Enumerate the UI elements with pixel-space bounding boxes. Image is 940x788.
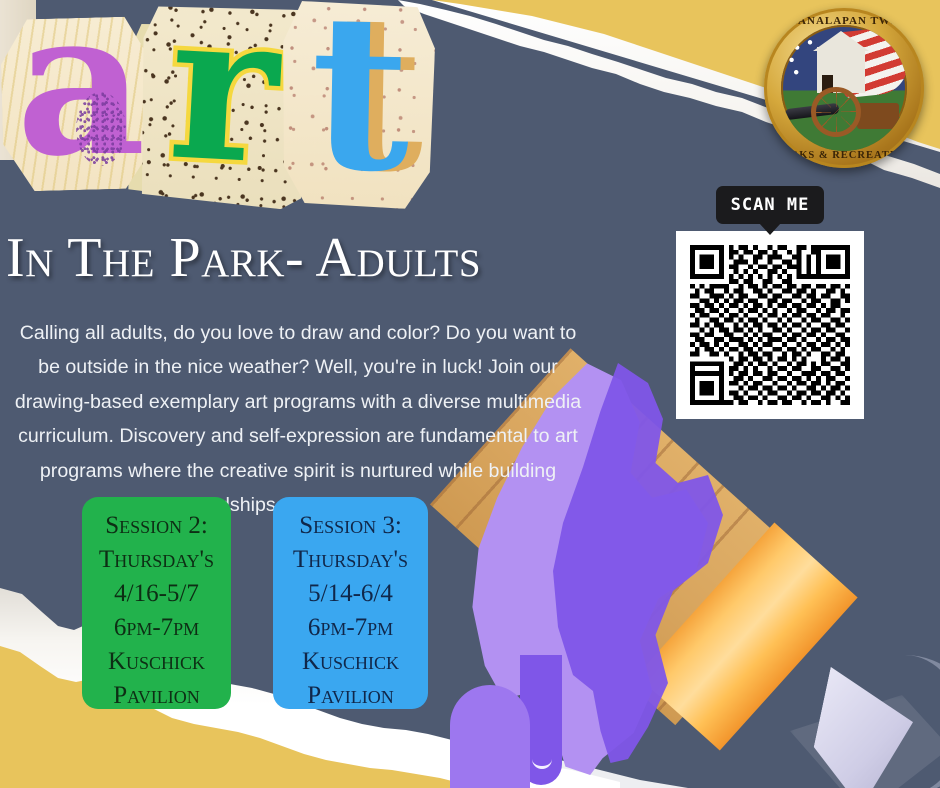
session-card-2: Session 2: Thursday's 4/16-5/7 6pm-7pm K…	[82, 497, 231, 709]
art-wordmark: a r t t	[0, 0, 430, 230]
session-3-line-2: Thursday's	[279, 543, 422, 577]
wagon-icon	[857, 103, 899, 129]
scan-me-pointer-icon	[759, 223, 781, 235]
session-3-line-4: 6pm-7pm	[279, 611, 422, 645]
session-3-line-5: Kuschick	[279, 645, 422, 679]
session-2-line-2: Thursday's	[88, 543, 225, 577]
session-3-line-1: Session 3:	[279, 509, 422, 543]
wagon-wheel-icon	[811, 87, 861, 137]
session-2-line-5: Kuschick	[88, 645, 225, 679]
seal-text-top: MANALAPAN TWP.	[764, 15, 924, 27]
seal-inner-scene	[781, 25, 907, 151]
session-2-line-3: 4/16-5/7	[88, 577, 225, 611]
qr-code-card[interactable]	[676, 231, 864, 419]
session-2-line-4: 6pm-7pm	[88, 611, 225, 645]
paint-splash-corner	[450, 685, 530, 788]
qr-block[interactable]: SCAN ME	[676, 186, 864, 419]
wordmark-letter-a: a	[6, 0, 156, 186]
seal-text-bottom: PARKS & RECREATION	[764, 150, 924, 161]
scan-me-badge: SCAN ME	[716, 186, 824, 224]
wordmark-letter-t: t	[288, 0, 432, 201]
session-2-line-6: Pavilion	[88, 679, 225, 713]
qr-code-icon[interactable]	[690, 245, 850, 405]
page-title: In The Park- Adults	[6, 228, 686, 288]
poster-canvas: a r t t In The Park- Adults Calling all …	[0, 0, 940, 788]
body-paragraph: Calling all adults, do you love to draw …	[8, 316, 588, 523]
session-3-line-6: Pavilion	[279, 679, 422, 713]
session-card-3: Session 3: Thursday's 5/14-6/4 6pm-7pm K…	[273, 497, 428, 709]
session-3-line-3: 5/14-6/4	[279, 577, 422, 611]
manalapan-township-seal-logo: MANALAPAN TWP. PARKS & RECREATION	[764, 8, 924, 168]
scan-me-label: SCAN ME	[731, 195, 810, 215]
session-2-line-1: Session 2:	[88, 509, 225, 543]
